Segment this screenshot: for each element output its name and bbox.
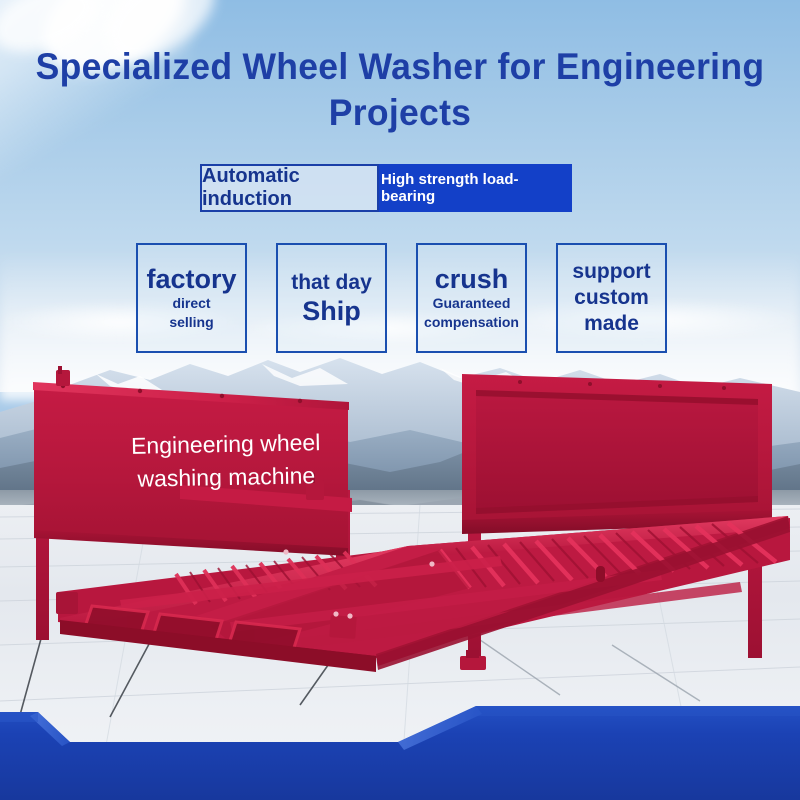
headline-line-2: Projects	[16, 90, 784, 136]
feature-badge-list: factory direct selling that day Ship cru…	[136, 243, 667, 353]
wheel-washing-machine-product	[0, 360, 800, 700]
feature-subtitle-line-2: made	[584, 311, 639, 337]
feature-subtitle-line-1: custom	[574, 285, 649, 311]
feature-title: crush	[435, 264, 509, 294]
feature-box-support-custom-made[interactable]: support custom made	[556, 243, 667, 353]
page-title: Specialized Wheel Washer for Engineering…	[16, 44, 784, 136]
feature-subtitle-line-2: selling	[169, 313, 213, 332]
feature-subtitle-line-1: direct	[172, 294, 210, 313]
panel-caption-line-1: Engineering wheel	[95, 426, 356, 464]
bottom-banner: Delivery Free invoicing	[0, 690, 800, 800]
tab-automatic-induction[interactable]: Automatic induction	[200, 164, 379, 212]
product-panel-caption: Engineering wheel washing machine	[95, 426, 356, 497]
feature-box-same-day-ship[interactable]: that day Ship	[276, 243, 387, 353]
feature-title: factory	[146, 264, 236, 294]
feature-title: support	[572, 259, 650, 285]
panel-caption-line-2: washing machine	[96, 459, 357, 497]
feature-subtitle-line-1: Guaranteed	[433, 294, 511, 313]
tab-high-strength-load-bearing[interactable]: High strength load-bearing	[379, 164, 572, 212]
banner-shape	[0, 690, 800, 800]
feature-box-crush-guaranteed-compensation[interactable]: crush Guaranteed compensation	[416, 243, 527, 353]
feature-subtitle-line-2: compensation	[424, 313, 519, 332]
advertisement-poster: Specialized Wheel Washer for Engineering…	[0, 0, 800, 800]
feature-title: Ship	[302, 296, 361, 326]
feature-subtitle-line-1: that day	[291, 270, 372, 296]
headline-line-1: Specialized Wheel Washer for Engineering	[16, 44, 784, 90]
feature-box-factory-direct-selling[interactable]: factory direct selling	[136, 243, 247, 353]
feature-tab-bar: Automatic induction High strength load-b…	[200, 164, 572, 212]
